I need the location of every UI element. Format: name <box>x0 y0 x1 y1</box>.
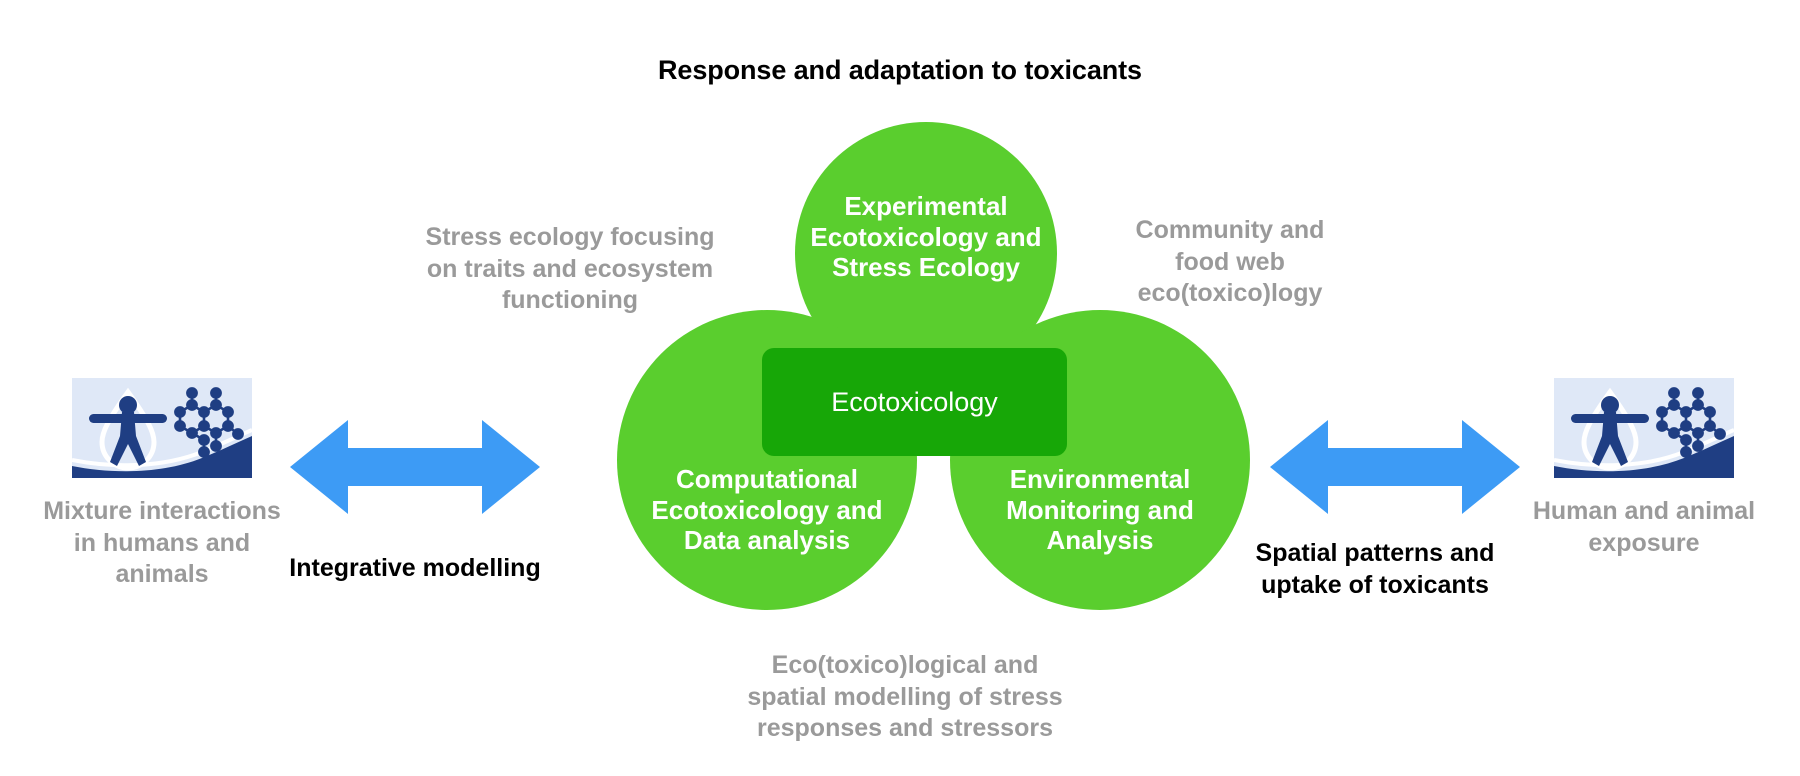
side-block-right: Human and animal exposure <box>1494 378 1794 559</box>
note-stress-ecology: Stress ecology focusing on traits and ec… <box>400 222 740 317</box>
line-2: Ecotoxicology and <box>651 495 882 525</box>
line-1: Environmental <box>1010 464 1191 494</box>
line-2: food web <box>1175 248 1285 276</box>
venn-circle-environmental-label: Environmental Monitoring and Analysis <box>975 464 1225 555</box>
line-2: on traits and ecosystem <box>427 255 713 283</box>
arrow-caption-spatial-patterns: Spatial patterns and uptake of toxicants <box>1215 538 1535 601</box>
line-3: Data analysis <box>684 525 850 555</box>
note-spatial-modelling: Eco(toxico)logical and spatial modelling… <box>700 650 1110 745</box>
venn-center-label: Ecotoxicology <box>831 387 998 418</box>
line-1: Computational <box>676 464 858 494</box>
venn-circle-computational-label: Computational Ecotoxicology and Data ana… <box>640 464 895 555</box>
line-2: exposure <box>1588 529 1699 557</box>
line-1: Community and <box>1136 216 1325 244</box>
human-molecule-water-logo-icon <box>72 378 252 478</box>
arrow-caption-integrative-modelling: Integrative modelling <box>265 553 565 585</box>
arrow-shape <box>290 420 540 514</box>
venn-circle-experimental-label: Experimental Ecotoxicology and Stress Ec… <box>809 191 1044 282</box>
line-1: Spatial patterns and <box>1256 539 1495 567</box>
line-2: Monitoring and <box>1006 495 1194 525</box>
line-1: Experimental <box>844 191 1007 221</box>
line-1: Stress ecology focusing <box>426 223 715 251</box>
line-1: Eco(toxico)logical and <box>772 651 1039 679</box>
line-2: in humans and <box>74 529 250 557</box>
line-3: Stress Ecology <box>832 252 1020 282</box>
diagram-canvas: Response and adaptation to toxicants Exp… <box>0 0 1800 776</box>
double-headed-arrow-left <box>290 412 540 522</box>
line-3: responses and stressors <box>757 714 1053 742</box>
line-1: Human and animal <box>1533 497 1755 525</box>
line-3: eco(toxico)logy <box>1138 279 1323 307</box>
note-community-food-web: Community and food web eco(toxico)logy <box>1090 215 1370 310</box>
venn-center-box: Ecotoxicology <box>762 348 1067 456</box>
line-1: Mixture interactions <box>43 497 281 525</box>
arrow-shape <box>1270 420 1520 514</box>
line-2: Ecotoxicology and <box>810 222 1041 252</box>
line-3: animals <box>115 560 208 588</box>
line-3: functioning <box>502 286 638 314</box>
double-headed-arrow-right <box>1270 412 1520 522</box>
page-title: Response and adaptation to toxicants <box>0 55 1800 86</box>
side-right-caption: Human and animal exposure <box>1494 496 1794 559</box>
line-2: spatial modelling of stress <box>747 683 1062 711</box>
human-molecule-water-logo-icon <box>1554 378 1734 478</box>
line-2: uptake of toxicants <box>1261 571 1489 599</box>
line-3: Analysis <box>1047 525 1154 555</box>
